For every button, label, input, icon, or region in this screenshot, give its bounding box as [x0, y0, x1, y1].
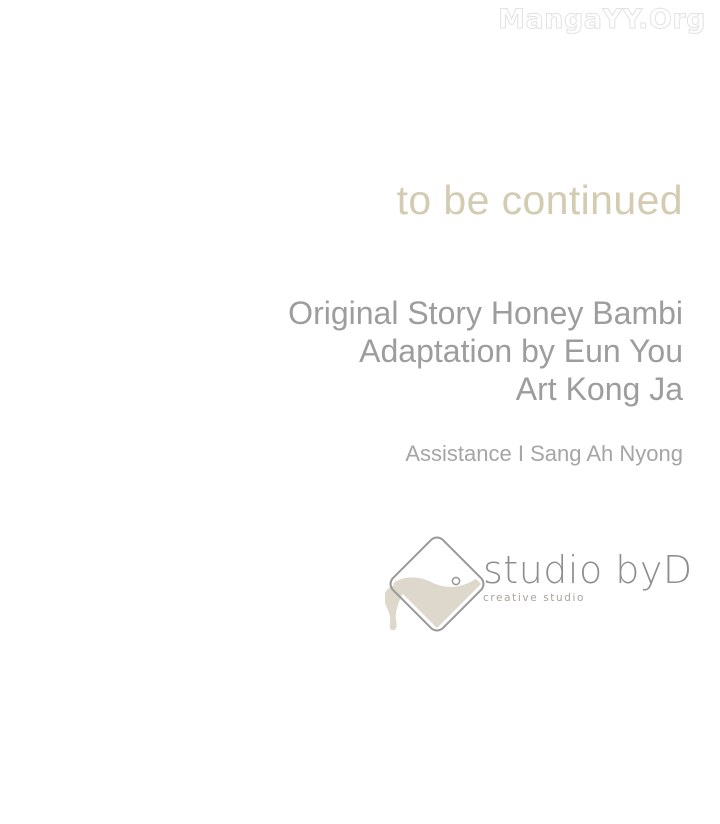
credits-block: Original Story Honey Bambi Adaptation by…	[0, 294, 683, 408]
diamond-splash-icon	[385, 532, 489, 636]
studio-byd-logo: studio byD creative studio	[385, 532, 685, 636]
logo-wordmark: studio byD creative studio	[483, 550, 683, 605]
page-canvas: MangaYY.Org to be continued Original Sto…	[0, 0, 720, 824]
credit-line-adaptation: Adaptation by Eun You	[0, 332, 683, 370]
credit-line-original-story: Original Story Honey Bambi	[0, 294, 683, 332]
to-be-continued-text: to be continued	[0, 176, 683, 224]
watermark-text: MangaYY.Org	[498, 4, 706, 35]
credit-line-art: Art Kong Ja	[0, 370, 683, 408]
logo-name: studio byD	[483, 550, 683, 590]
site-watermark: MangaYY.Org	[498, 2, 706, 38]
credit-line-assistance: Assistance I Sang Ah Nyong	[0, 440, 683, 468]
logo-tagline: creative studio	[483, 591, 683, 605]
